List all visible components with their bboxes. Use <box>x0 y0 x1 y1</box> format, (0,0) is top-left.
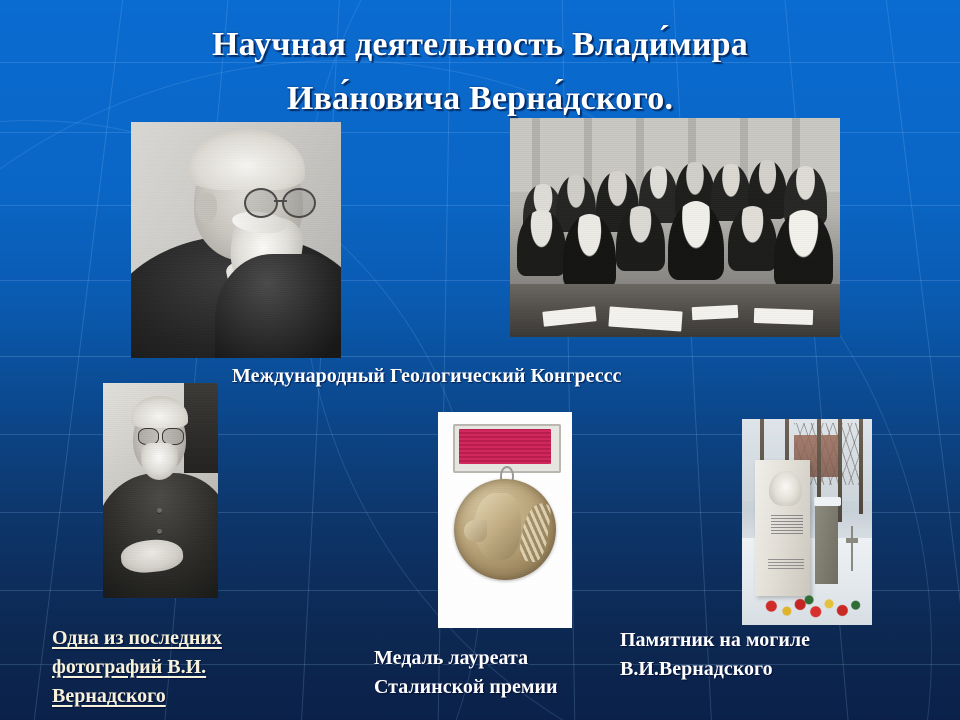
congress-film-grain <box>510 118 840 337</box>
medal-film-grain <box>438 412 572 628</box>
caption-medal: Медаль лауреата Сталинской премии <box>374 644 594 702</box>
presentation-slide: Научная деятельность Влади́мира Ива́нови… <box>0 0 960 720</box>
caption-grave-monument: Памятник на могиле В.И.Вернадского <box>620 626 880 684</box>
slide-title-line-2: Ива́новича Верна́дского. <box>0 72 960 126</box>
grave-film-grain <box>742 419 872 625</box>
photo-stalin-prize-medal <box>438 412 572 628</box>
photo-last-photograph <box>103 383 218 598</box>
last-photo-film-grain <box>103 383 218 598</box>
caption-last-photograph: Одна из последних фотографий В.И. Вернад… <box>52 624 282 711</box>
photo-grave-monument <box>742 419 872 625</box>
slide-title: Научная деятельность Влади́мира Ива́нови… <box>0 18 960 126</box>
photo-portrait-vernadsky <box>131 122 341 358</box>
slide-title-line-1: Научная деятельность Влади́мира <box>0 18 960 72</box>
caption-congress: Международный Геологический Конгрессс <box>232 363 752 389</box>
photo-geological-congress <box>510 118 840 337</box>
portrait-film-grain <box>131 122 341 358</box>
